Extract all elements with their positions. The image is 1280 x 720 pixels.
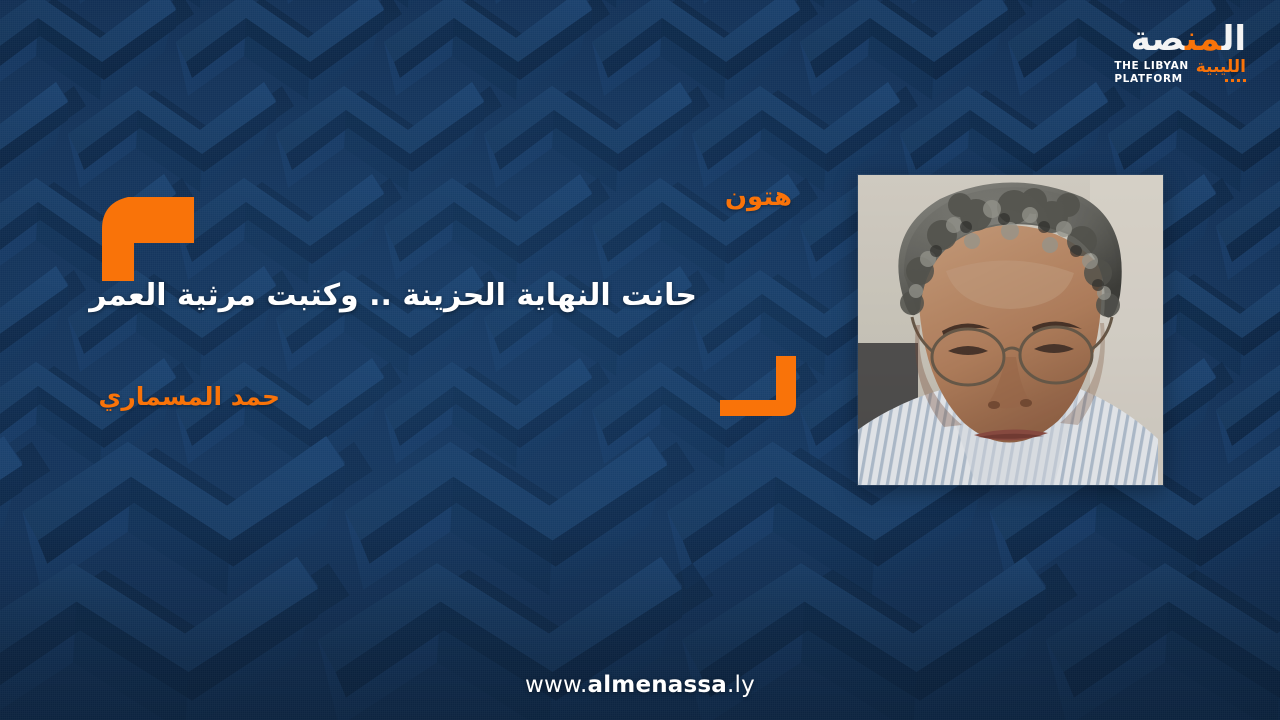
- logo-dot-icon: [1243, 79, 1247, 83]
- brand-logo-subtitle-ar-wrap: الليبية: [1196, 59, 1246, 82]
- logo-dot-icon: [1237, 79, 1241, 83]
- footer-url-tld: .ly: [727, 672, 755, 698]
- author-portrait-photo: [858, 175, 1163, 485]
- quote-open-mark-icon: [98, 193, 198, 281]
- author-name: حمد المسماري: [98, 382, 280, 411]
- brand-logo-subtitle-row: THE LIBYAN PLATFORM الليبية: [1086, 59, 1246, 86]
- brand-logo-arabic-text: المنصة: [1131, 19, 1246, 59]
- logo-dot-icon: [1231, 79, 1235, 83]
- brand-logo-subtitle-ar: الليبية: [1196, 59, 1246, 77]
- headline-title: حانت النهاية الحزينة .. وكتبت مرثية العم…: [177, 278, 697, 313]
- logo-dot-icon: [1225, 79, 1229, 83]
- footer-website-url[interactable]: www.almenassa.ly: [0, 672, 1280, 698]
- brand-logo-subtitle-en-line1: THE LIBYAN: [1114, 59, 1188, 72]
- logo-dot-icon-group: [1196, 79, 1246, 83]
- kicker-label: هتون: [725, 182, 792, 212]
- brand-logo-subtitle-en: THE LIBYAN PLATFORM: [1114, 59, 1188, 86]
- footer-url-www: www.: [525, 672, 587, 698]
- brand-logo-arabic: المنصة: [1086, 22, 1246, 56]
- footer-url-name: almenassa: [587, 672, 727, 698]
- article-promo-card: المنصة THE LIBYAN PLATFORM الليبية هتون: [0, 0, 1280, 720]
- brand-logo-subtitle-en-line2: PLATFORM: [1114, 72, 1188, 85]
- brand-logo[interactable]: المنصة THE LIBYAN PLATFORM الليبية: [1086, 22, 1246, 86]
- quote-close-mark-icon: [718, 356, 800, 420]
